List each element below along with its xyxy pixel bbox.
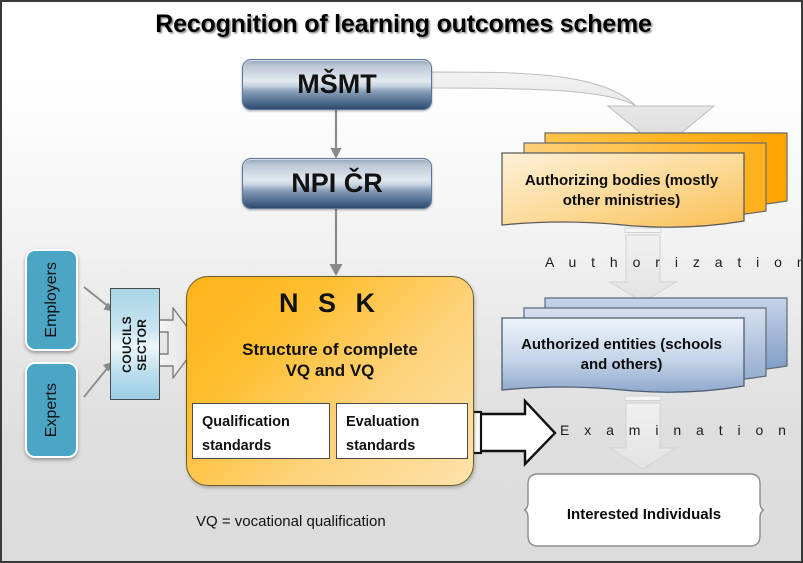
node-msmt-label: MŠMT <box>297 69 376 100</box>
arrow-nsk-to-examinations <box>473 401 555 464</box>
authorized-entities-line2: and others) <box>499 355 744 375</box>
diagram-canvas: Recognition of learning outcomes scheme … <box>0 0 803 563</box>
label-examinations: E x a m i n a t i o n s <box>560 422 803 438</box>
legend-vq: VQ = vocational qualification <box>196 513 386 530</box>
qualification-standards-line1: Qualification <box>202 411 320 435</box>
qualification-standards-line2: standards <box>202 435 320 459</box>
evaluation-standards-line2: standards <box>346 435 458 459</box>
node-msmt[interactable]: MŠMT <box>242 59 432 110</box>
node-npi-cr[interactable]: NPI ČR <box>242 158 432 209</box>
node-experts-label: Experts <box>43 383 61 437</box>
label-authorization: A u t h o r i z a t i o n <box>545 254 803 270</box>
authorizing-bodies-line1: Authorizing bodies (mostly <box>499 171 744 191</box>
node-evaluation-standards[interactable]: Evaluation standards <box>336 403 468 459</box>
node-nsk-subtitle-line1: Structure of complete <box>242 339 418 360</box>
connector-msmt-to-npi <box>331 110 342 159</box>
node-sector-councils-label-2: COUCILS <box>120 316 135 373</box>
node-interested-individuals[interactable]: Interested Individuals <box>524 472 764 548</box>
node-nsk-subtitle-line2: VQ and VQ <box>286 360 375 381</box>
node-nsk-title: N S K <box>279 288 381 319</box>
node-experts[interactable]: Experts <box>25 362 78 458</box>
authorizing-bodies-label: Authorizing bodies (mostly other ministr… <box>499 171 744 210</box>
node-nsk[interactable]: N S K Structure of complete VQ and VQ Qu… <box>186 276 474 486</box>
node-npi-cr-label: NPI ČR <box>291 168 383 199</box>
node-qualification-standards[interactable]: Qualification standards <box>192 403 330 459</box>
node-employers-label: Employers <box>43 262 61 338</box>
node-employers[interactable]: Employers <box>25 249 78 351</box>
node-authorizing-bodies[interactable]: Authorizing bodies (mostly other ministr… <box>499 129 789 229</box>
page-title: Recognition of learning outcomes scheme <box>2 10 803 39</box>
node-sector-councils-label-1: SECTOR <box>135 316 150 373</box>
connector-npi-to-nsk <box>330 209 343 276</box>
node-sector-councils[interactable]: SECTOR COUCILS <box>110 288 160 400</box>
node-authorized-entities[interactable]: Authorized entities (schools and others) <box>499 294 789 394</box>
authorized-entities-line1: Authorized entities (schools <box>499 335 744 355</box>
evaluation-standards-line1: Evaluation <box>346 411 458 435</box>
interested-individuals-label: Interested Individuals <box>524 506 764 523</box>
authorized-entities-label: Authorized entities (schools and others) <box>499 335 744 374</box>
authorizing-bodies-line2: other ministries) <box>499 191 744 211</box>
